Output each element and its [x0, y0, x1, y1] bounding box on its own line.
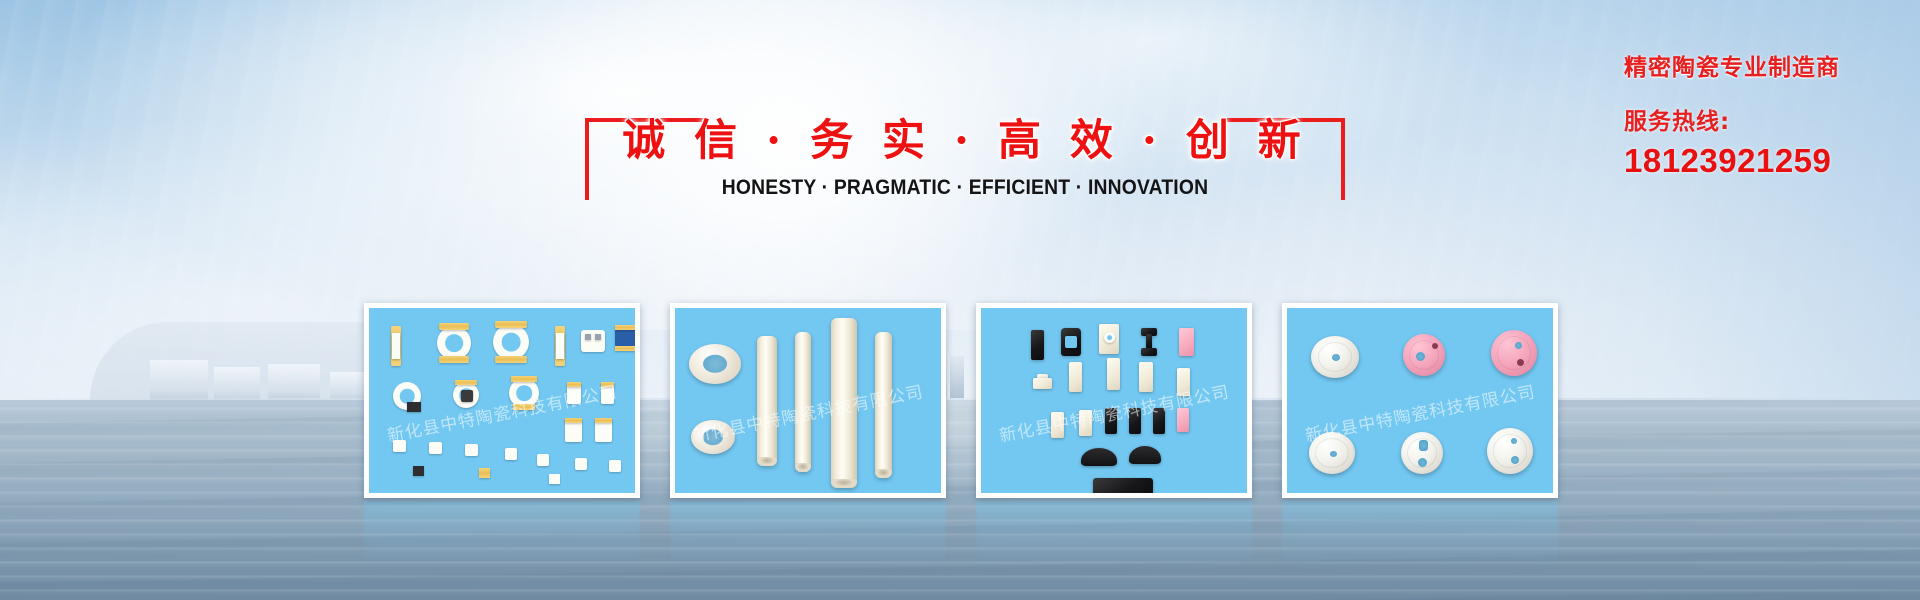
product-panel-discs[interactable]: 新化县中特陶瓷科技有限公司: [1282, 303, 1558, 498]
product-panel-smd-chips[interactable]: 新化县中特陶瓷科技有限公司: [364, 303, 640, 498]
product-panel-row: 新化县中特陶瓷科技有限公司 新化县中特陶瓷科技有限公司: [364, 303, 1560, 498]
product-panel-blocks[interactable]: 新化县中特陶瓷科技有限公司: [976, 303, 1252, 498]
slogan-block: 诚 信 · 务 实 · 高 效 · 创 新 HONESTY · PRAGMATI…: [585, 118, 1345, 218]
company-tagline: 精密陶瓷专业制造商: [1624, 48, 1884, 82]
contact-info-block: 精密陶瓷专业制造商 服务热线: 18123921259: [1624, 48, 1884, 180]
promotional-banner: 诚 信 · 务 实 · 高 效 · 创 新 HONESTY · PRAGMATI…: [0, 0, 1920, 600]
hotline-number[interactable]: 18123921259: [1624, 142, 1884, 180]
product-panel-tubes[interactable]: 新化县中特陶瓷科技有限公司: [670, 303, 946, 498]
slogan-english: HONESTY · PRAGMATIC · EFFICIENT · INNOVA…: [615, 176, 1314, 200]
slogan-chinese: 诚 信 · 务 实 · 高 效 · 创 新: [585, 106, 1345, 168]
hotline-label: 服务热线:: [1624, 102, 1884, 136]
